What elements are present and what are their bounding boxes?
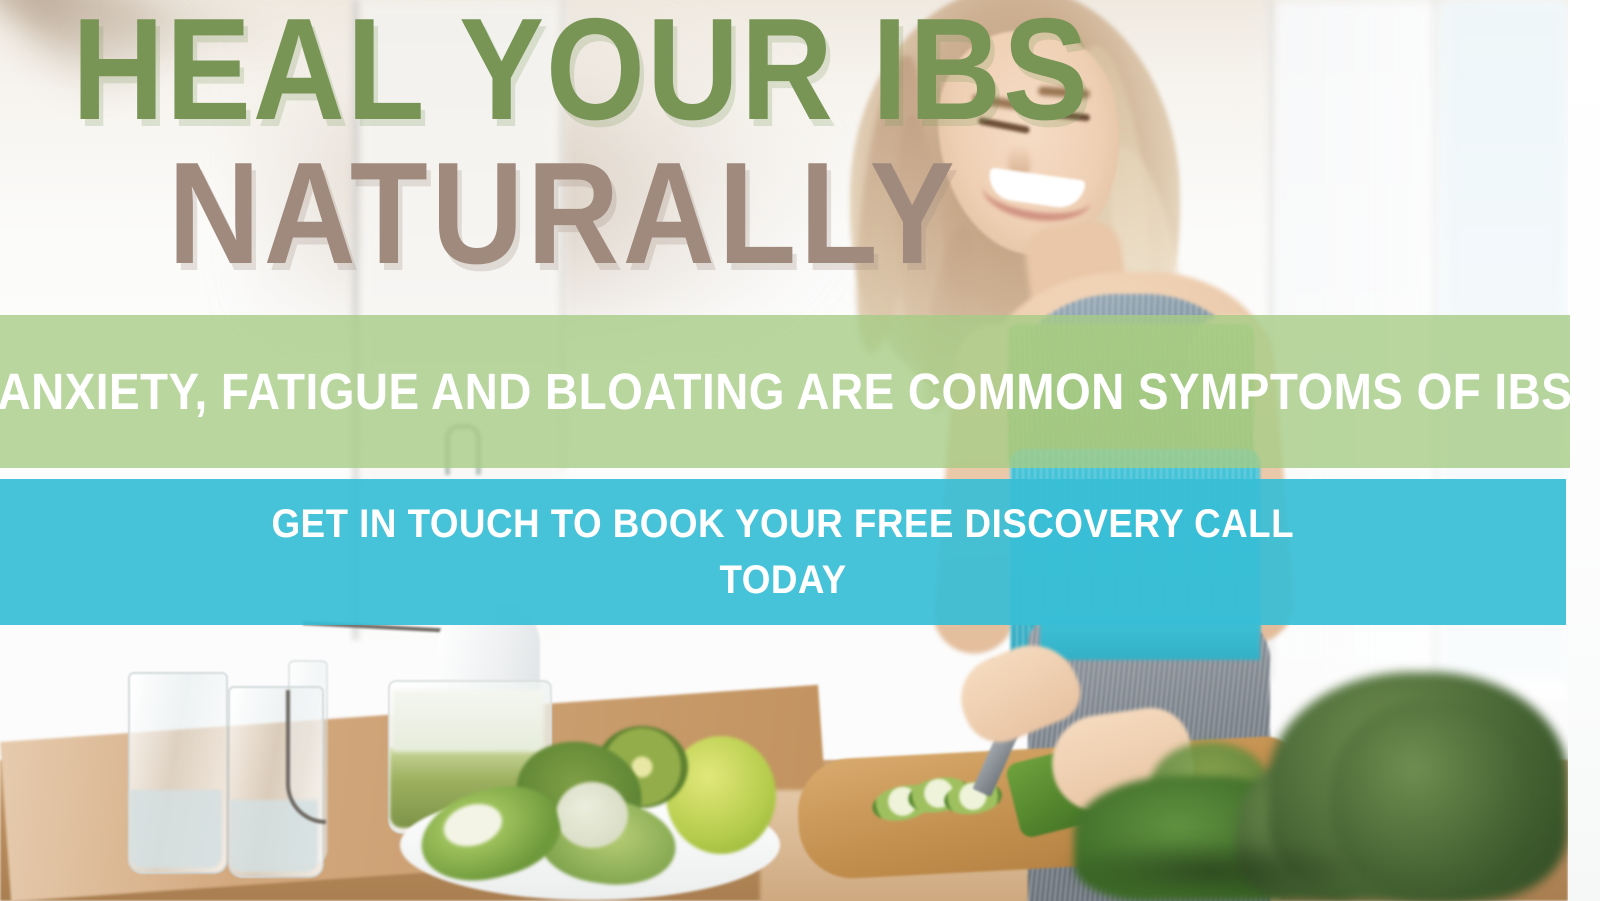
cta-band[interactable]: Get in touch to book your free discovery… — [0, 479, 1566, 625]
cta-line-1: Get in touch to book your free discovery… — [272, 504, 1295, 544]
symptoms-band: Anxiety, fatigue and bloating are common… — [0, 315, 1570, 468]
power-cord — [286, 690, 326, 824]
symptoms-band-text: Anxiety, fatigue and bloating are common… — [0, 362, 1572, 421]
promo-poster: Heal Your IBS Naturally Anxiety, fatigue… — [0, 0, 1600, 901]
smoothie-foam — [392, 690, 544, 752]
broccoli — [1330, 700, 1540, 901]
water-in-glass — [130, 790, 222, 868]
cta-line-2: Today — [719, 560, 846, 600]
foreground-shadow — [1060, 840, 1360, 901]
right-margin — [1568, 0, 1600, 901]
garlic-bulb — [556, 782, 628, 848]
